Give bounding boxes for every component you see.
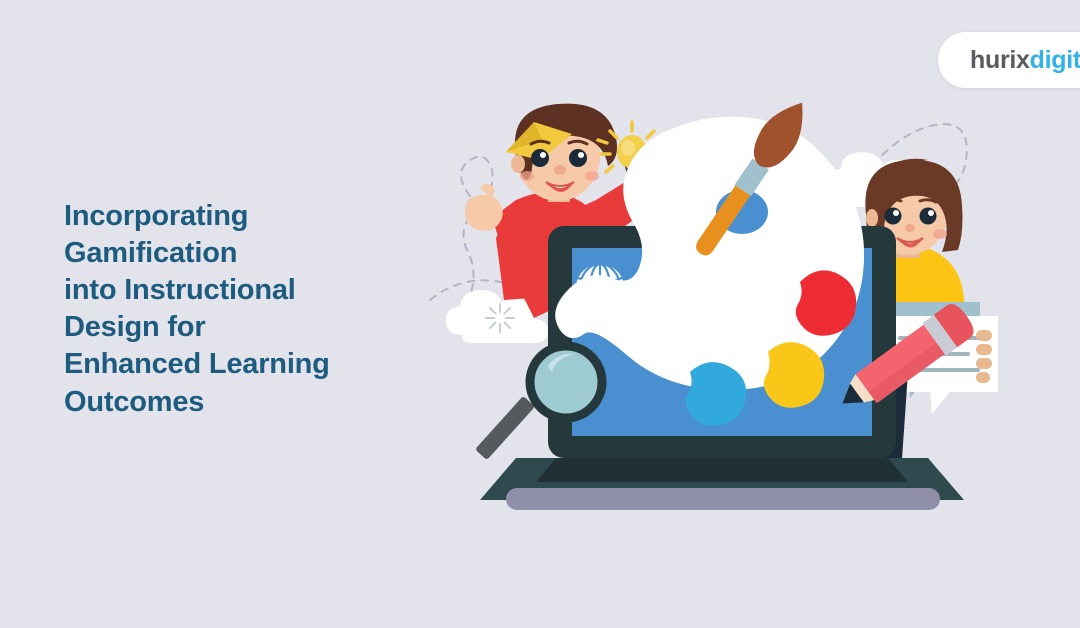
- headline-line: Outcomes: [64, 386, 204, 418]
- magnifier-handle: [475, 396, 535, 460]
- logo-text: hurixdigital: [970, 46, 1080, 75]
- brand-logo[interactable]: hurixdigital: [938, 32, 1080, 88]
- headline-line: Incorporating: [64, 200, 248, 232]
- laptop-shadow-bar: [506, 488, 940, 510]
- boy-left-hand: [465, 184, 503, 231]
- logo-digital: digital: [1030, 46, 1080, 74]
- magnifier-lens: [530, 346, 602, 418]
- headline-line: Gamification: [64, 237, 237, 269]
- page-title: Incorporating Gamification into Instruct…: [64, 198, 434, 421]
- paint-blob-red: [796, 270, 856, 335]
- blog-banner: Incorporating Gamification into Instruct…: [0, 0, 1080, 628]
- headline-line: Design for: [64, 311, 205, 343]
- logo-hurix: hurix: [970, 46, 1030, 74]
- headline-line: into Instructional: [64, 274, 296, 306]
- headline-line: Enhanced Learning: [64, 348, 330, 380]
